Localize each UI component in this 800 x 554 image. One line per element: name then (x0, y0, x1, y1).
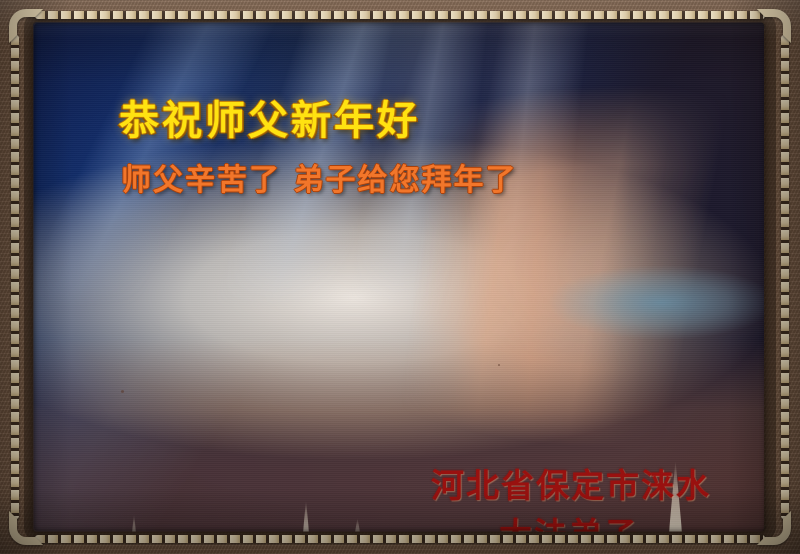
sunset-sky-photograph: 恭祝师父新年好 师父辛苦了 弟子给您拜年了 河北省保定市涞水 大法弟子 (33, 22, 764, 532)
bead-run-bottom (35, 535, 765, 543)
bead-run-top (35, 11, 765, 19)
bead-run-right (781, 35, 789, 519)
photo-vignette (33, 22, 764, 532)
bead-run-left (11, 35, 19, 519)
greeting-card: 恭祝师父新年好 师父辛苦了 弟子给您拜年了 河北省保定市涞水 大法弟子 (0, 0, 800, 554)
